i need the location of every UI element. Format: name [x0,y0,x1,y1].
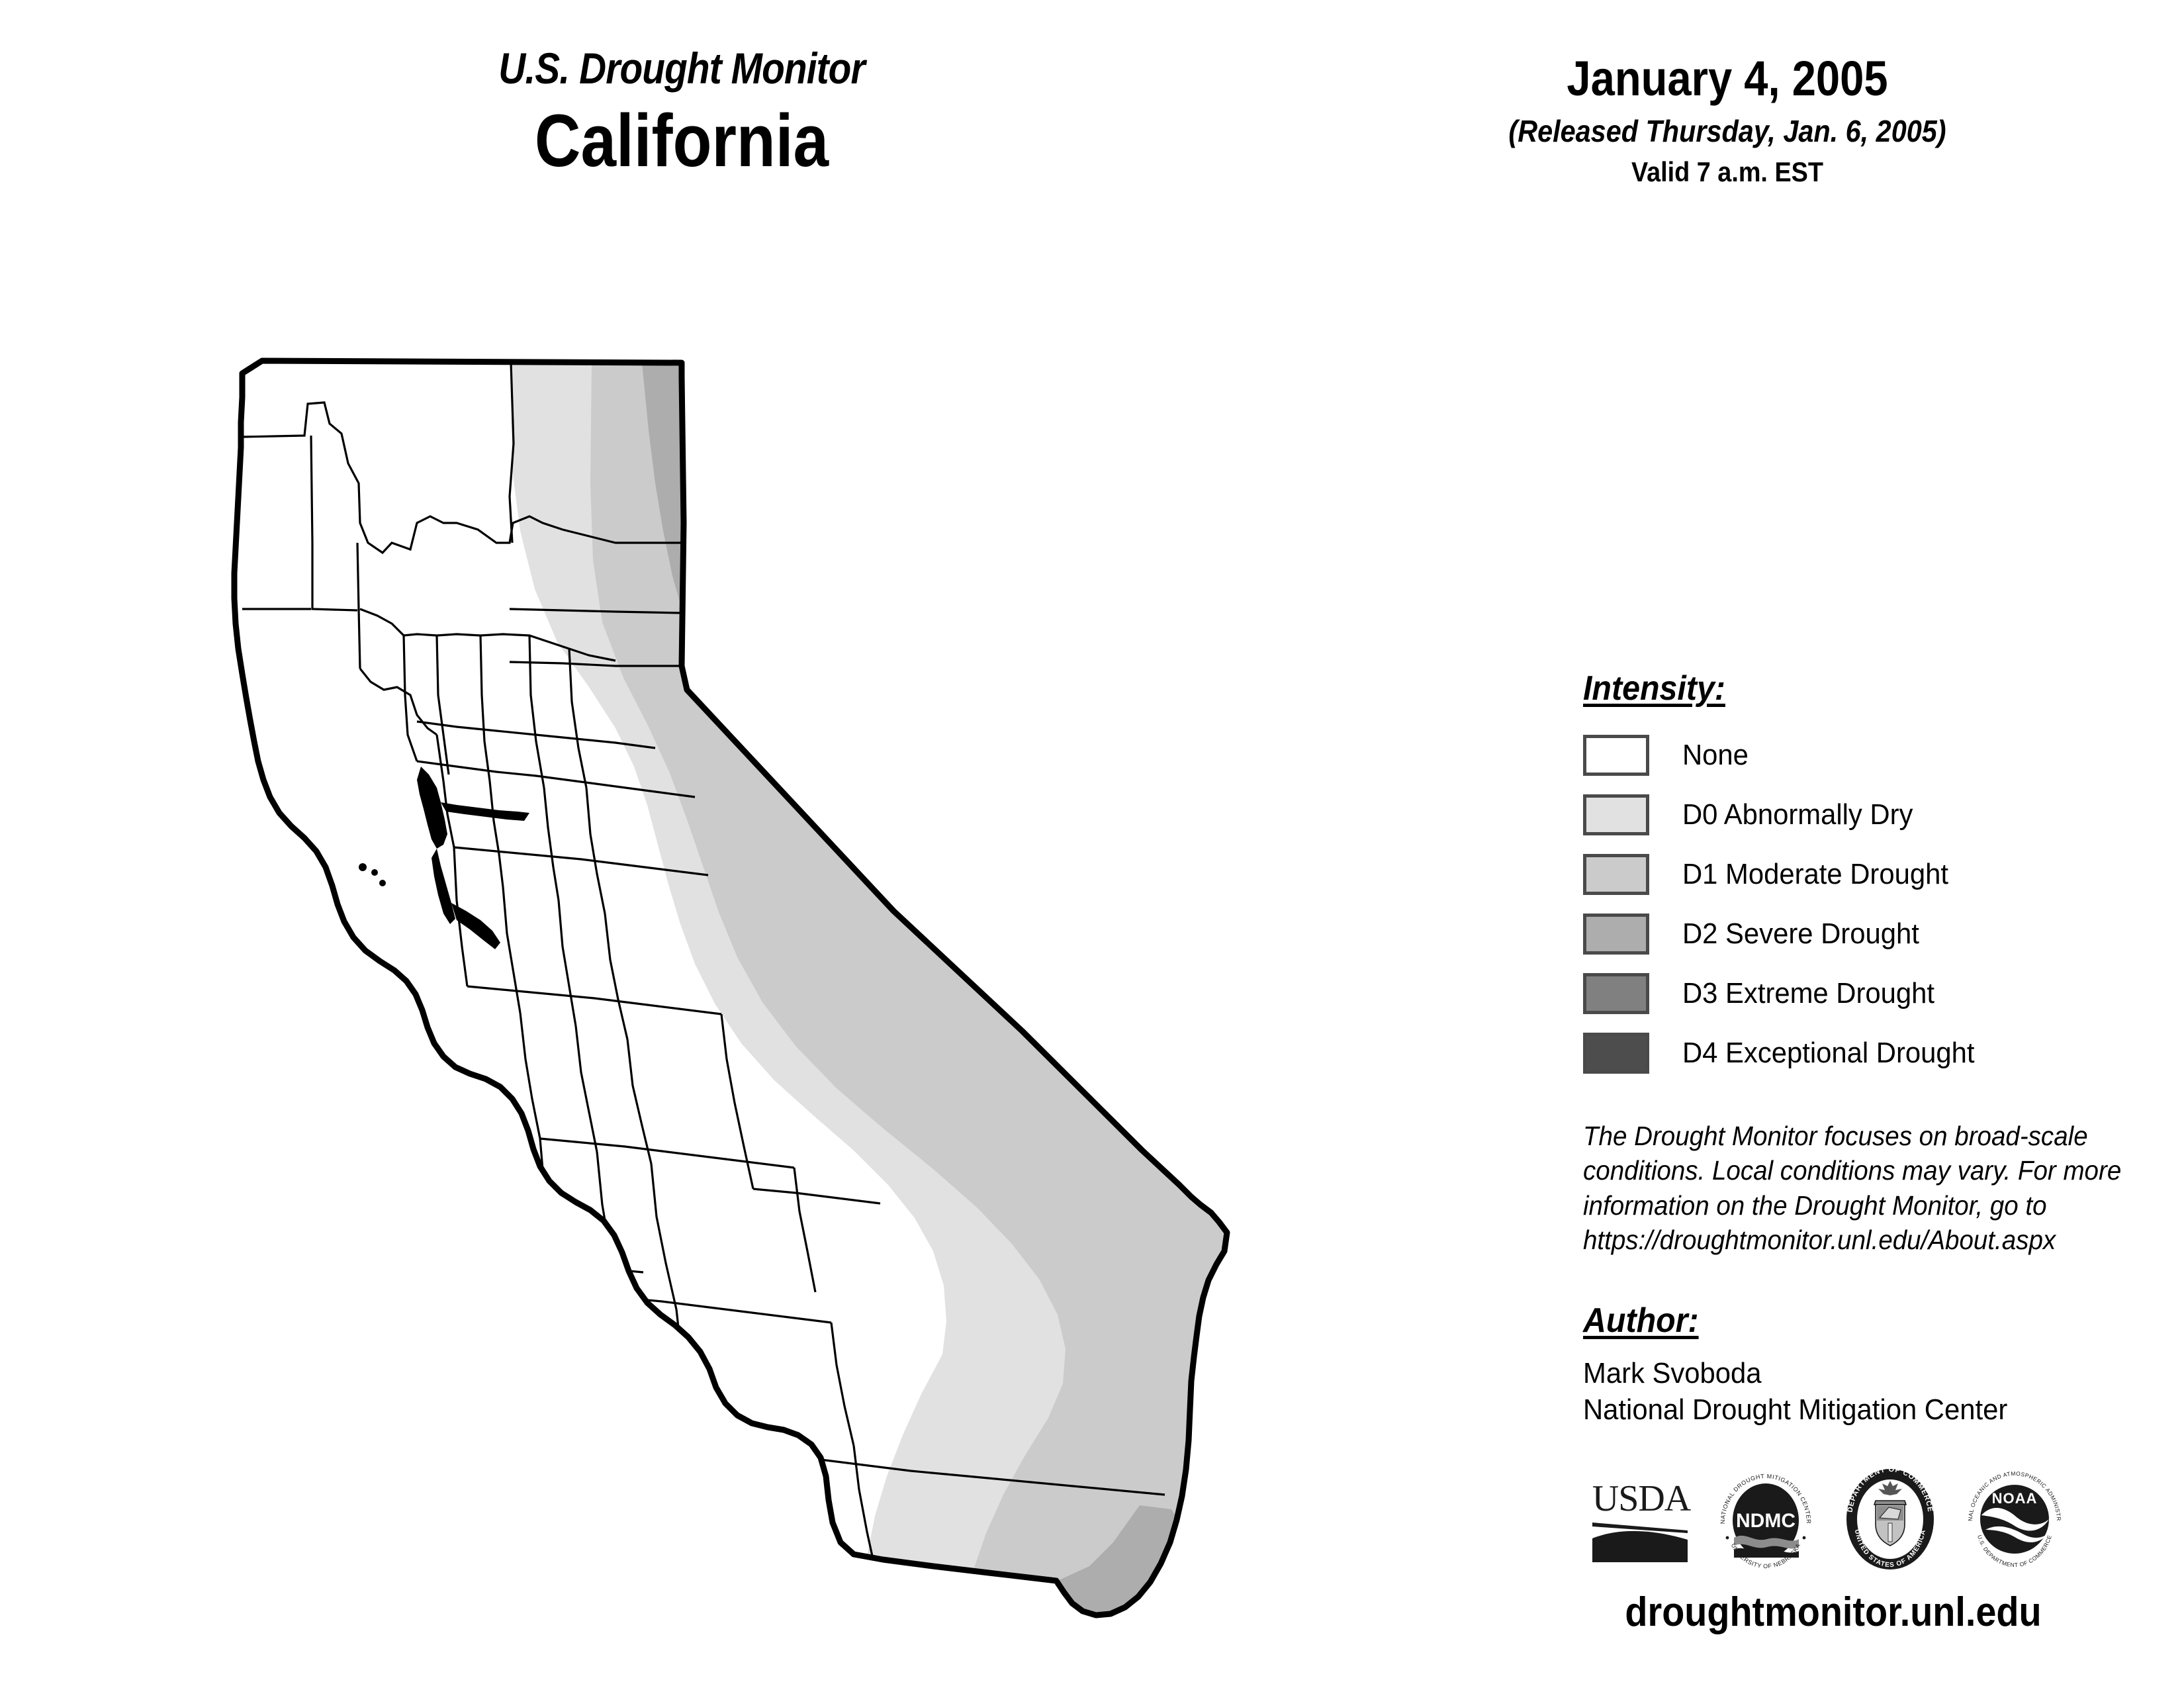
disclaimer-line-3: information on the Drought Monitor, go t… [1583,1188,2161,1223]
disclaimer-url[interactable]: https://droughtmonitor.unl.edu/About.asp… [1583,1223,2161,1257]
legend-item-d3: D3 Extreme Drought [1583,964,2113,1023]
footer-url[interactable]: droughtmonitor.unl.edu [1565,1589,2101,1636]
legend-label-none: None [1682,739,1749,772]
noaa-logo: NOAA NATIONAL OCEANIC AND ATMOSPHERIC AD… [1962,1466,2068,1575]
header-left: U.S. Drought Monitor California [311,46,1052,180]
header-right: January 4, 2005 (Released Thursday, Jan.… [1443,53,2012,187]
author-heading: Author: [1583,1301,1699,1340]
legend-item-d0: D0 Abnormally Dry [1583,785,2113,845]
legend-item-none: None [1583,726,2113,785]
california-drought-map [218,324,1370,1635]
legend-item-d4: D4 Exceptional Drought [1583,1023,2113,1083]
state-title: California [363,102,1000,180]
page-title: U.S. Drought Monitor [363,46,1000,90]
valid-time: Valid 7 a.m. EST [1471,158,1983,187]
legend-swatch-d1 [1583,854,1649,895]
legend-title: Intensity: [1583,669,1725,708]
legend-swatch-d0 [1583,794,1649,835]
author-block: Author: Mark Svoboda National Drought Mi… [1583,1301,2179,1428]
legend-swatch-d2 [1583,914,1649,955]
author-name: Mark Svoboda [1583,1355,2149,1391]
usda-logo: USDA [1588,1470,1694,1572]
release-date: (Released Thursday, Jan. 6, 2005) [1471,115,1983,147]
legend-label-d1: D1 Moderate Drought [1682,858,1948,891]
department-of-commerce-seal: DEPARTMENT OF COMMERCE UNITED STATES OF … [1837,1466,1943,1575]
author-organization: National Drought Mitigation Center [1583,1391,2149,1428]
legend-label-d3: D3 Extreme Drought [1682,977,1934,1010]
disclaimer-line-1: The Drought Monitor focuses on broad-sca… [1583,1119,2161,1153]
legend-item-d1: D1 Moderate Drought [1583,845,2113,904]
svg-text:NOAA: NOAA [1992,1490,2038,1507]
svg-text:NDMC: NDMC [1736,1510,1796,1532]
valid-date: January 4, 2005 [1477,53,1978,105]
legend-label-d2: D2 Severe Drought [1682,917,1919,951]
ndmc-logo: NDMC NATIONAL DROUGHT MITIGATION CENTER … [1713,1466,1819,1575]
legend-label-d0: D0 Abnormally Dry [1682,798,1913,831]
disclaimer-line-2: conditions. Local conditions may vary. F… [1583,1153,2161,1188]
disclaimer-text: The Drought Monitor focuses on broad-sca… [1583,1119,2161,1258]
legend-swatch-none [1583,735,1649,776]
legend-item-d2: D2 Severe Drought [1583,904,2113,964]
legend-swatch-d3 [1583,973,1649,1014]
svg-text:USDA: USDA [1592,1478,1692,1519]
intensity-legend: Intensity: None D0 Abnormally Dry D1 Mod… [1583,669,2113,1083]
agency-logo-row: USDA NDMC NATIONAL DROUGHT MITIGATION CE… [1588,1460,2118,1582]
legend-label-d4: D4 Exceptional Drought [1682,1037,1974,1070]
legend-swatch-d4 [1583,1033,1649,1074]
